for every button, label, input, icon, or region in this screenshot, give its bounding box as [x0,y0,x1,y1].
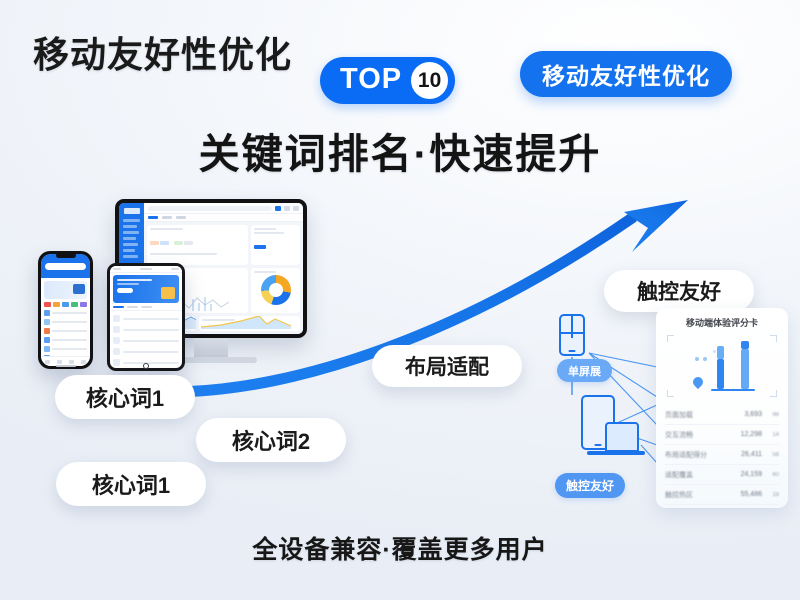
list-item[interactable] [110,337,182,344]
row-value: 55,486 [741,491,762,498]
desktop-screen [115,199,307,338]
header-tag-pill: 移动友好性优化 [520,51,732,97]
row-value: 12,298 [741,431,762,438]
mini-pill-touch-friendly: 触控友好 [555,473,625,498]
monitor-stand [194,338,228,357]
dashboard-sidebar [119,203,144,334]
tablet-statusbar [110,266,182,273]
tablet-tabs[interactable] [110,303,182,311]
list-item[interactable] [110,359,182,366]
list-item[interactable] [44,337,87,343]
table-row: 跳跳转速度评分 22,449 41 [665,505,779,508]
small-laptop-icon [605,422,639,452]
desktop-monitor-mockup [115,199,307,363]
row-label: 交互流畅 [665,430,737,440]
score-card-table: 页面加载 3,693 98 交互流畅 12,298 14 布局适配得分 26,4… [665,405,779,508]
dashboard-stat-card [251,225,300,265]
location-pin-icon [691,375,705,389]
row-delta: 14 [766,432,779,438]
mini-pill-single-screen: 单屏展 [557,359,612,382]
monitor-base [165,357,257,363]
list-item[interactable] [44,328,87,334]
tablet-home-button[interactable] [143,363,149,369]
row-delta: 18 [766,492,779,498]
table-row: 布局适配得分 26,411 58 [665,445,779,465]
row-value: 3,693 [744,411,762,418]
table-row: 触控热区 55,486 18 [665,485,779,505]
tablet-mockup [107,263,185,371]
page-subtitle: 关键词排名·快速提升 [0,120,800,180]
smartphone-mockup [38,251,93,369]
list-item[interactable] [110,326,182,333]
phone-tab-bar[interactable] [41,356,90,366]
row-delta: 58 [766,452,779,458]
mobile-score-card: 移动端体验评分卡 页面加载 3,693 98 交互流畅 12,298 1 [656,308,788,508]
row-label: 触控热区 [665,490,737,500]
dashboard-area-chart-card-a [147,316,196,331]
tablet-hero-icon [161,287,175,299]
touch-friendly-diagram: 单屏展 触控友好 移动端体验评分卡 页面加载 3,693 98 [543,305,793,510]
top-badge-word: TOP [340,65,402,96]
row-label: 适配覆盖 [665,470,737,480]
keyword-pill-2: 核心词2 [196,418,346,462]
phone-quick-icons[interactable] [41,299,90,307]
dashboard-line-chart-card [147,268,248,313]
list-item[interactable] [44,319,87,325]
top-ranking-badge: TOP 10 [320,57,455,104]
row-label: 布局适配得分 [665,450,737,460]
dashboard-donut-chart-card [251,268,300,313]
dashboard-filter-card [147,225,248,265]
small-laptop-base [587,451,645,455]
list-item[interactable] [110,348,182,355]
page-title: 移动友好性优化 [33,26,292,78]
phone-home-indicator [56,365,76,367]
score-card-chart [665,335,779,397]
list-item[interactable] [44,364,87,366]
phone-search-input[interactable] [45,263,86,270]
dashboard-search-input[interactable] [148,206,272,211]
tablet-hero-banner [113,275,179,303]
row-value: 26,411 [741,451,762,458]
list-item[interactable] [110,315,182,322]
row-value: 24,159 [741,471,762,478]
row-delta: 60 [766,472,779,478]
list-item[interactable] [44,310,87,316]
poster-canvas: 移动友好性优化 TOP 10 移动友好性优化 关键词排名·快速提升 [0,0,800,600]
callout-layout-adaptation: 布局适配 [372,345,522,387]
row-label: 页面加载 [665,410,740,420]
footer-caption: 全设备兼容·覆盖更多用户 [0,530,800,566]
dashboard-topbar [144,203,303,214]
phone-result-list [41,307,90,366]
list-item[interactable] [44,355,87,361]
table-row: 交互流畅 12,298 14 [665,425,779,445]
row-delta: 98 [766,412,779,418]
phone-app-header [41,254,90,278]
tablet-hero-button[interactable] [117,288,133,293]
table-row: 页面加载 3,693 98 [665,405,779,425]
top-badge-number: 10 [411,62,448,99]
keyword-pill-3: 核心词1 [56,462,206,506]
phone-banner [44,281,87,299]
phone-notch [56,253,76,258]
dashboard-tabs[interactable] [144,214,303,222]
donut-chart [261,275,291,305]
dashboard-area-chart-card-b [199,316,300,331]
list-item[interactable] [44,346,87,352]
tablet-list [110,315,182,366]
small-phone-icon-top [559,314,585,356]
score-card-title: 移动端体验评分卡 [665,316,779,329]
table-row: 适配覆盖 24,159 60 [665,465,779,485]
keyword-pill-1: 核心词1 [55,375,195,419]
